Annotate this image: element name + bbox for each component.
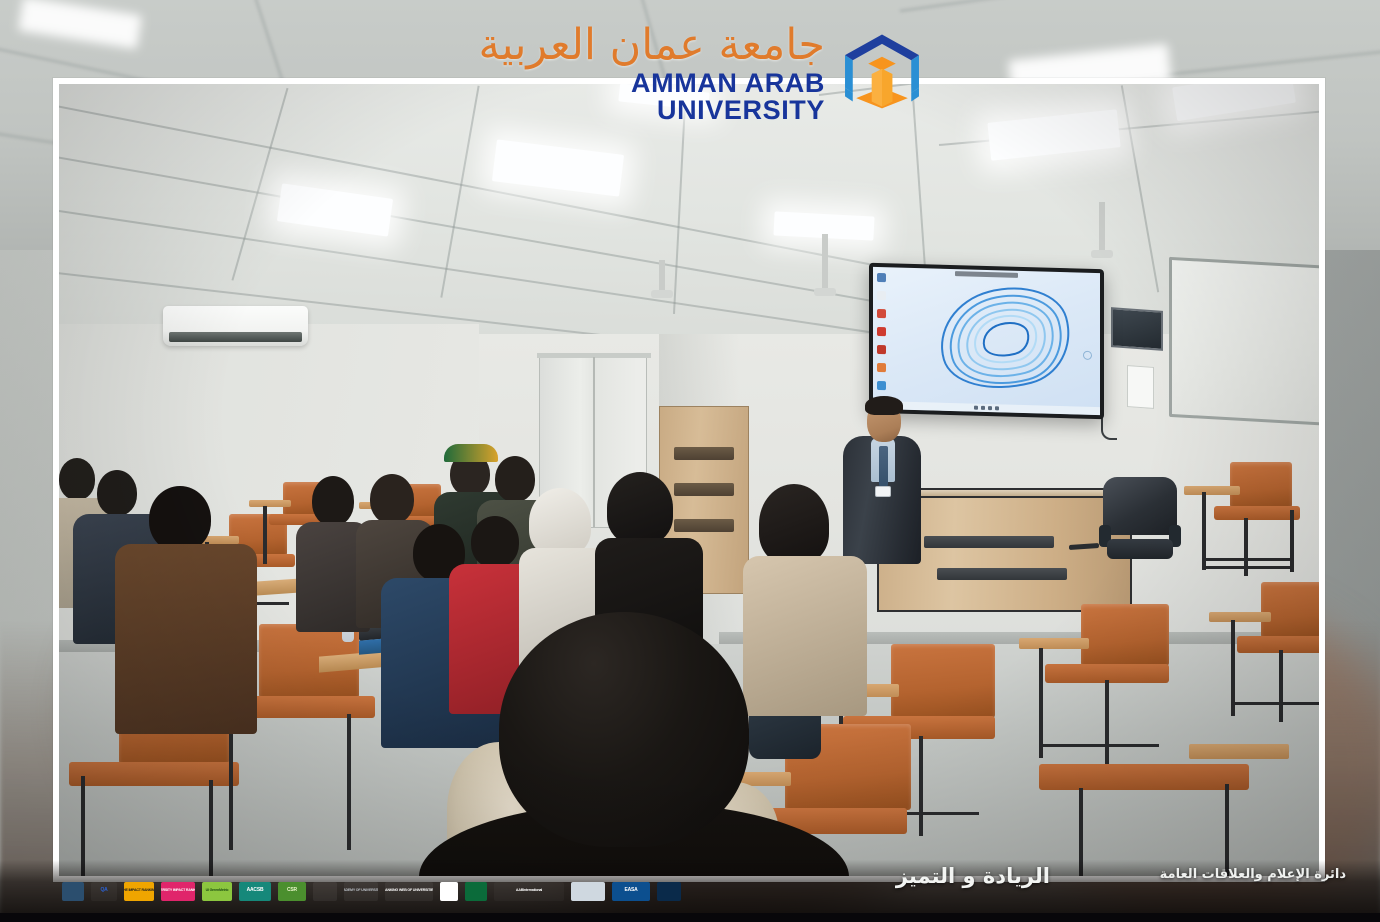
pendant-rod xyxy=(1099,202,1105,254)
desktop-icons[interactable] xyxy=(877,273,899,400)
csr-certification-logo: CSR xyxy=(278,882,306,901)
ui-greenmetric-logo: UI GreenMetric xyxy=(202,882,232,901)
foreground-student xyxy=(459,612,789,876)
wall-notice-sheet xyxy=(1127,365,1154,409)
academy-of-university-logo: ACADEMY OF UNIVERSITIES xyxy=(344,882,378,901)
museum-institution-logo xyxy=(313,882,337,901)
photo-frame xyxy=(53,78,1325,882)
university-impact-rankings-logo: UNIVERSITY IMPACT RANKINGS xyxy=(161,882,195,901)
qa-logo: QA xyxy=(91,882,117,901)
interactive-smart-display[interactable] xyxy=(869,263,1104,420)
easa-logo: EASA xyxy=(612,882,650,901)
office-chair[interactable] xyxy=(1099,477,1181,572)
pendant-rod xyxy=(659,260,665,294)
student-chair[interactable] xyxy=(1184,462,1304,582)
seal-emblem-logo xyxy=(62,882,84,901)
student-chair[interactable] xyxy=(1039,744,1289,876)
windows-taskbar[interactable] xyxy=(873,401,1100,415)
brand-name-arabic: جامعة عمان العربية xyxy=(455,24,825,67)
student-chair[interactable] xyxy=(1209,582,1319,732)
aacsb-accredited-logo: AACSB xyxy=(239,882,271,901)
ceiling-light xyxy=(277,183,393,236)
power-icon xyxy=(1083,351,1092,360)
wall-monitor xyxy=(1111,307,1163,351)
brand-text-block: جامعة عمان العربية AMMAN ARAB UNIVERSITY xyxy=(455,24,825,124)
tagline-arabic: الريادة و التميز xyxy=(896,864,1050,888)
cap-icon xyxy=(444,444,498,462)
green-circular-seal-logo xyxy=(465,882,487,901)
department-name-arabic: دائرة الإعلام والعلاقات العامة xyxy=(1160,867,1346,882)
times-higher-education-impact-logo: THE IMPACT RANKING xyxy=(124,882,154,901)
classroom-photo xyxy=(59,84,1319,876)
circular-badge-logo xyxy=(657,882,681,901)
display-screen xyxy=(873,267,1100,415)
pendant-rod xyxy=(822,234,828,292)
air-conditioner xyxy=(163,306,308,346)
id-badge xyxy=(875,486,891,497)
footer-black-strip xyxy=(0,913,1380,922)
aab-international-logo: AABInternational xyxy=(494,882,564,901)
national-accreditation-logo xyxy=(571,882,605,901)
institution-pillars-logo xyxy=(440,882,458,901)
university-brand-header: جامعة عمان العربية AMMAN ARAB UNIVERSITY xyxy=(455,28,925,120)
ceiling-light xyxy=(987,109,1120,160)
ranking-web-of-universities-logo: RANKING WEB OF UNIVERSITIES xyxy=(385,882,433,901)
poster-root: جامعة عمان العربية AMMAN ARAB UNIVERSITY xyxy=(0,0,1380,922)
hexagon-cube-logo-icon xyxy=(839,30,925,118)
ceiling-light xyxy=(492,139,624,196)
brand-name-english: AMMAN ARAB UNIVERSITY xyxy=(455,70,825,124)
windows-bloom-wallpaper xyxy=(937,280,1078,398)
screen-title-bar xyxy=(955,271,1019,278)
footer-bar: QATHE IMPACT RANKINGUNIVERSITY IMPACT RA… xyxy=(0,860,1380,922)
whiteboard xyxy=(1169,257,1319,427)
